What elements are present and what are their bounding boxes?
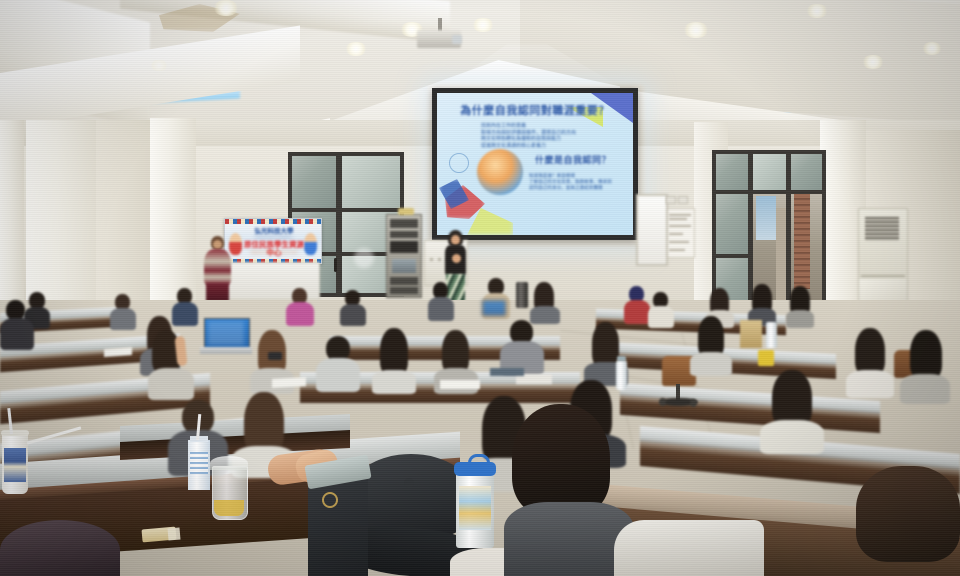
audience-person-near-4: [760, 370, 824, 450]
cap-button-icon: [404, 478, 414, 488]
body: [286, 302, 314, 326]
body: [340, 304, 366, 326]
body: [900, 374, 950, 404]
ceiling-light-5: [683, 22, 709, 38]
plastic-cup-dome-lid-icon: [210, 456, 248, 470]
door-right-rail: [712, 190, 826, 194]
tablet-far[interactable]: [482, 300, 506, 316]
poster-line-4: [669, 233, 683, 235]
ceiling-light-9: [150, 60, 168, 71]
chair-caster-1: [659, 398, 666, 406]
door-left-glass-upper-r: [342, 156, 400, 208]
paper-sheet-2: [440, 380, 480, 389]
hair: [0, 520, 120, 576]
av-equipment-rack: [386, 214, 422, 298]
ceiling-light-7: [862, 55, 884, 69]
body: [846, 370, 894, 398]
head: [6, 300, 25, 320]
poster-line-6: [669, 249, 685, 251]
door-right-glass-tr: [790, 154, 822, 190]
rack-slot-4: [390, 277, 418, 285]
presentation-slide: 為什麼自我認同對職涯重要？ 找到內在工作的意義 取得方向與好評價與條件，選擇自己…: [437, 93, 633, 235]
foreground-person-bottom-left: [0, 520, 120, 576]
banner-university-name-en: HUNGKUANG UNIVERSITY: [245, 236, 303, 239]
body: [428, 297, 454, 321]
body: [760, 420, 824, 454]
presenter-hands: [452, 254, 461, 263]
event-banner: 弘光科技大學 HUNGKUANG UNIVERSITY 原住民族學生資源中心 I…: [224, 218, 322, 264]
plastic-cup-drink-contents: [214, 500, 244, 516]
door-left-handle-icon[interactable]: [334, 258, 337, 272]
paper-bag-item: [740, 320, 762, 348]
backpack-buckle-icon: [322, 492, 338, 508]
audience-person-far-13: [786, 286, 814, 324]
slide-title: 為什麼自我認同對職涯重要？: [437, 105, 633, 117]
ceiling-light-6: [806, 4, 828, 18]
yellow-box-item: [758, 350, 774, 366]
backpack-foreground: [308, 476, 368, 576]
hair: [855, 328, 885, 376]
door-left-mullion-v: [336, 152, 342, 297]
tumbler-handle-icon: [468, 454, 490, 467]
projector-lens-icon: [452, 35, 462, 44]
audience-person-far-4: [286, 288, 314, 324]
body: [648, 306, 674, 328]
snack-wrapper-end: [167, 527, 180, 540]
notebook-dark-right: [490, 368, 524, 376]
water-bottle-cap-icon: [617, 356, 626, 361]
drink-cup-left-lid: [1, 430, 29, 436]
slide-bullet-4: 促進跨文化溝通的核心素養力: [481, 143, 631, 150]
milk-carton-label: [190, 452, 208, 474]
slide-sub-bullet-list: 知道我是誰？來自哪裡 了解自己的文化背景、族群故事、傳承到 認同自己的身分，並與…: [529, 173, 633, 191]
ac-panel-seam: [861, 275, 905, 277]
door-right-glass-tl: [716, 154, 748, 190]
audience-person-mid-4: [316, 336, 360, 394]
person-traditional-attire: [200, 236, 234, 302]
poster-line-2: [669, 218, 687, 220]
lecture-hall-photo: 為什麼自我認同對職涯重要？ 找到內在工作的意義 取得方向與好評價與條件，選擇自己…: [0, 0, 960, 576]
drink-cup-left-graphic: [4, 448, 26, 482]
audience-person-far-12: [748, 284, 776, 322]
door-right-glass-tm: [752, 154, 786, 190]
audience-person-mid-5: [372, 328, 416, 390]
poster-line-1: [669, 214, 691, 216]
audience-person-mid-10: [846, 328, 894, 394]
ceiling-light-1: [213, 0, 239, 16]
body: [0, 318, 34, 350]
slide-bullet-list: 找到內在工作的意義 取得方向與好評價與條件，選擇自己的方向 跨文化特色轉化為優勢…: [481, 123, 631, 149]
thermos-flask[interactable]: [516, 282, 528, 308]
hair: [244, 392, 284, 454]
body: [690, 352, 732, 376]
rack-slot-2: [390, 231, 418, 238]
ac-vent-grille: [865, 217, 899, 241]
chair-caster-2: [690, 399, 697, 407]
rack-slot-3: [390, 241, 418, 253]
corridor-window: [756, 196, 776, 240]
audience-person-far-9: [624, 286, 650, 322]
banner-top-stripe: [225, 219, 321, 224]
body: [110, 308, 136, 330]
door-left-glass-upper-l: [292, 156, 336, 208]
rack-top-object: [398, 208, 414, 215]
body: [624, 300, 650, 324]
poster-line-3: [669, 225, 691, 227]
wall-recess-left: [96, 120, 156, 320]
door-right-glass-ml: [716, 194, 748, 254]
body: [148, 368, 194, 400]
smartphone-on-desk[interactable]: [268, 352, 282, 360]
audience-person-far-5: [340, 290, 366, 324]
slide-decorative-ring: [449, 153, 469, 173]
rack-display-screen: [392, 259, 416, 273]
rack-slot-5: [390, 287, 418, 294]
audience-person-mid-9: [690, 316, 732, 372]
water-bottle[interactable]: [616, 360, 627, 390]
presenter-face: [451, 235, 460, 245]
ceiling-light-3: [345, 42, 367, 56]
poster-line-5: [669, 241, 689, 243]
audience-person-far-8: [530, 282, 560, 320]
audience-person-far-2: [110, 294, 136, 328]
body: [316, 358, 360, 392]
host-face: [213, 240, 222, 249]
hair: [910, 330, 942, 380]
paper-sheet-1: [272, 377, 306, 388]
wall-notice-poster: [665, 208, 695, 258]
audience-laptop-user: [148, 330, 194, 400]
slide-subtitle: 什麼是自我認同？: [515, 155, 631, 165]
audience-person-far-10: [648, 292, 674, 326]
bottle-near-bag[interactable]: [766, 322, 777, 348]
banner-university-name: 弘光科技大學: [245, 228, 303, 235]
wall-switch-plate-2[interactable]: [678, 196, 688, 204]
ceiling-light-8: [922, 42, 942, 55]
ceiling-light-4: [472, 18, 494, 32]
banner-center-name-en: Indigenous Students Resource Center: [241, 251, 307, 254]
body: [786, 310, 814, 328]
banner-center-name: 原住民族學生資源中心: [242, 241, 306, 257]
audience-person-mid-11: [900, 330, 950, 400]
laptop-screen-content: [208, 322, 244, 344]
host-torso: [204, 249, 231, 285]
foreground-sleeve-bottom-right: [614, 520, 764, 576]
door-left-glass-reflection: [354, 248, 374, 268]
audience-person-mid-1: [0, 300, 34, 348]
hair: [512, 404, 610, 516]
corridor-brick-wall: [794, 194, 810, 289]
slide-sub-bullet-3: 認同自己的身分，並與之連結到實踐: [529, 185, 633, 191]
rack-slot-1: [390, 219, 418, 228]
whiteboard: [636, 194, 668, 266]
wall-switch-plate[interactable]: [666, 196, 676, 204]
body: [372, 370, 416, 394]
pillar-left-1: [0, 120, 24, 320]
laptop-keyboard-base[interactable]: [200, 347, 252, 354]
tumbler-sticker-graphic: [459, 486, 491, 530]
foreground-person-far-right: [856, 466, 960, 576]
hair: [856, 466, 960, 562]
projection-screen-frame: 為什麼自我認同對職涯重要？ 找到內在工作的意義 取得方向與好評價與條件，選擇自己…: [432, 88, 638, 240]
audience-person-far-6: [428, 282, 454, 318]
hair: [380, 328, 408, 376]
